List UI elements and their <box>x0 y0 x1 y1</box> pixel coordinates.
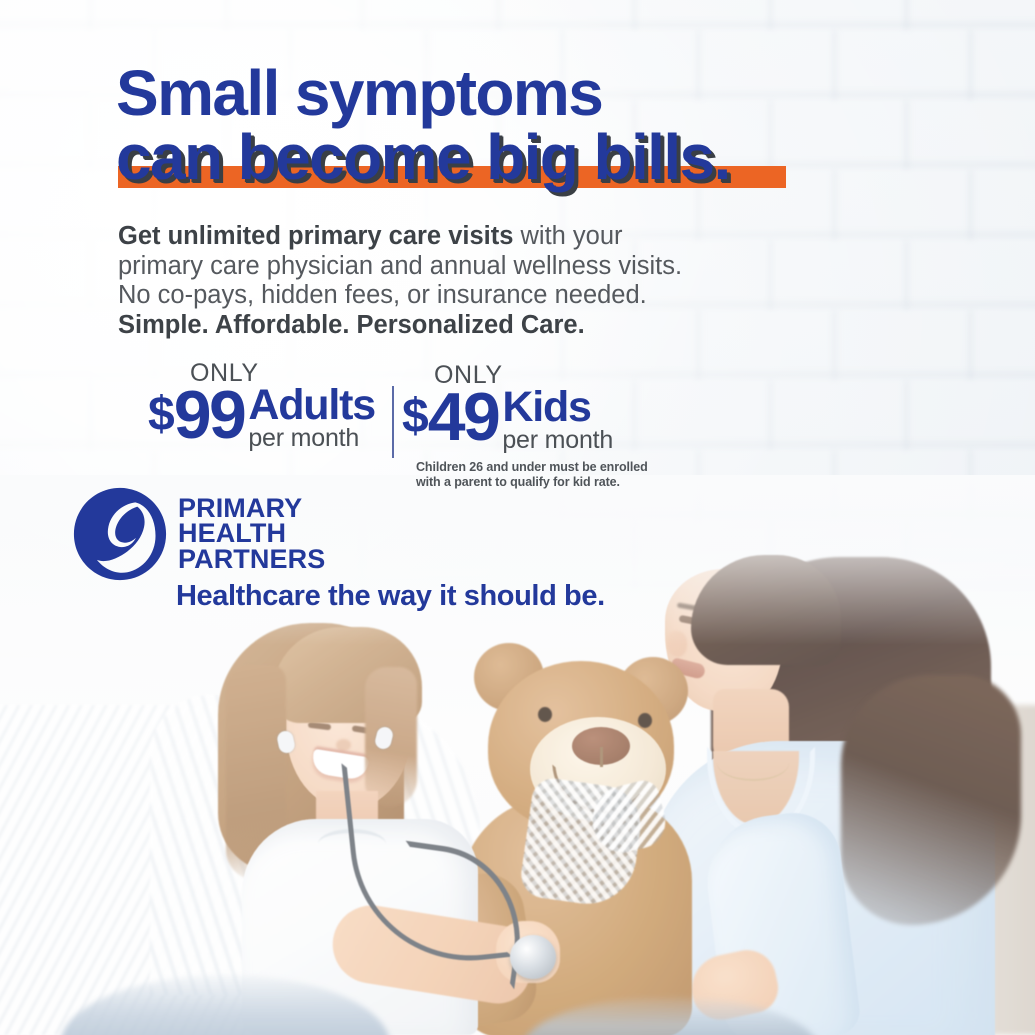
period-kids: per month <box>502 427 613 453</box>
price-block-kids: ONLY $49 Kids per month <box>402 364 613 453</box>
logo-word-line-3: PARTNERS <box>178 547 325 573</box>
tagline: Healthcare the way it should be. <box>176 580 605 613</box>
price-amount-adults: $99 <box>148 384 244 446</box>
price-row-kids: $49 Kids per month <box>402 386 613 453</box>
primary-health-partners-logo-mark <box>72 486 168 582</box>
headline-line-2-wrapper: can become big bills. <box>116 126 730 188</box>
logo-word-line-2: HEALTH <box>178 521 325 547</box>
plan-name-adults: Adults <box>248 386 375 424</box>
body-line-1-rest: with your <box>513 222 622 250</box>
price-row-adults: $99 Adults per month <box>148 384 375 451</box>
advertisement-canvas: Small symptoms can become big bills. Get… <box>0 0 1035 1035</box>
body-line-2: primary care physician and annual wellne… <box>118 252 682 280</box>
headline: Small symptoms can become big bills. <box>116 62 730 188</box>
headline-line-2: can become big bills. <box>116 121 730 193</box>
plan-column-adults: Adults per month <box>248 384 375 451</box>
currency-symbol-kids: $ <box>402 390 428 443</box>
body-lead-bold: Get unlimited primary care visits <box>118 222 513 250</box>
logo-lockup: PRIMARY HEALTH PARTNERS <box>72 486 325 582</box>
body-line-3: No co-pays, hidden fees, or insurance ne… <box>118 281 647 309</box>
price-block-adults: ONLY $99 Adults per month <box>148 362 375 451</box>
price-divider <box>392 386 394 458</box>
price-amount-kids: $49 <box>402 386 498 448</box>
pricing-disclaimer: Children 26 and under must be enrolled w… <box>416 460 656 490</box>
price-value-adults: 99 <box>174 377 245 453</box>
ad-content: Small symptoms can become big bills. Get… <box>0 0 1035 1035</box>
plan-name-kids: Kids <box>502 388 613 426</box>
currency-symbol-adults: $ <box>148 388 174 441</box>
headline-line-1: Small symptoms <box>116 57 602 129</box>
body-line-4-bold: Simple. Affordable. Personalized Care. <box>118 311 585 339</box>
price-value-kids: 49 <box>428 379 499 455</box>
body-copy: Get unlimited primary care visits with y… <box>118 222 758 340</box>
period-adults: per month <box>248 425 375 451</box>
logo-wordmark: PRIMARY HEALTH PARTNERS <box>178 496 325 573</box>
plan-column-kids: Kids per month <box>502 386 613 453</box>
